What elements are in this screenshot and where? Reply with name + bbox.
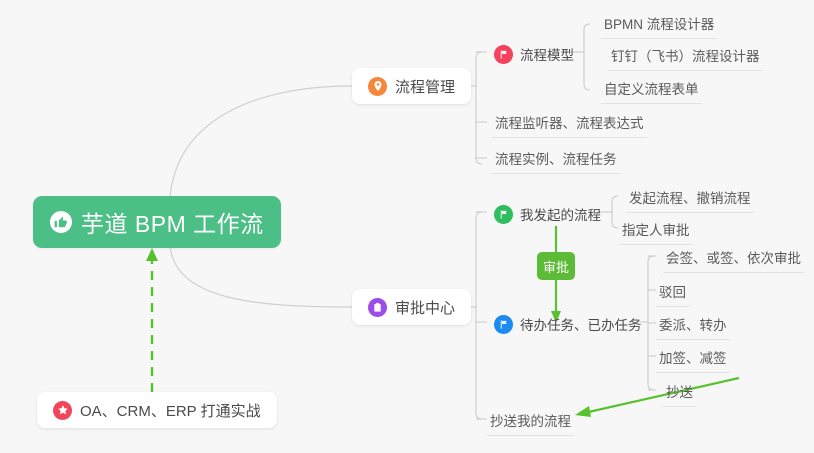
root-label: 芋道 BPM 工作流 — [81, 205, 264, 239]
leaf-dingtalk-feishu-designer[interactable]: 钉钉（飞书）流程设计器 — [608, 45, 763, 71]
location-pin-icon — [368, 77, 387, 96]
link-model-bracket — [584, 24, 590, 90]
mindmap-canvas: 芋道 BPM 工作流 流程管理 流程模型 BPMN 流程设计器 钉钉（飞书）流程… — [0, 0, 814, 453]
flag-icon — [494, 205, 513, 224]
leaf-delegate-transfer[interactable]: 委派、转办 — [656, 314, 730, 340]
annotation-integration-card[interactable]: OA、CRM、ERP 打通实战 — [37, 392, 277, 428]
leaf-add-remove-sign[interactable]: 加签、减签 — [656, 347, 730, 373]
clipboard-icon — [368, 298, 387, 317]
green-dashed-arrowhead — [146, 248, 158, 261]
link-root-to-approval-center — [170, 246, 352, 307]
annotation-approve-tag[interactable]: 审批 — [537, 252, 575, 280]
annotation-integration-label: OA、CRM、ERP 打通实战 — [80, 400, 261, 421]
root-node[interactable]: 芋道 BPM 工作流 — [33, 196, 281, 248]
sub-label-todo-done-tasks: 待办任务、已办任务 — [520, 314, 642, 334]
link-ac-bracket — [476, 212, 482, 419]
branch-label-approval-center: 审批中心 — [395, 297, 455, 318]
leaf-cc-to-me-process[interactable]: 抄送我的流程 — [487, 410, 574, 436]
leaf-custom-form[interactable]: 自定义流程表单 — [601, 78, 702, 104]
green-arrowhead-cc — [575, 406, 591, 417]
leaf-process-instance-task[interactable]: 流程实例、流程任务 — [492, 148, 620, 174]
star-icon — [53, 401, 72, 420]
branch-label-process-management: 流程管理 — [395, 76, 455, 97]
sub-node-process-model[interactable]: 流程模型 — [492, 44, 576, 68]
thumbs-up-icon — [50, 211, 72, 233]
flag-icon — [494, 45, 513, 64]
link-todo-bracket — [648, 256, 654, 390]
sub-node-todo-done-tasks[interactable]: 待办任务、已办任务 — [492, 314, 644, 338]
branch-node-approval-center[interactable]: 审批中心 — [352, 289, 471, 325]
leaf-bpmn-designer[interactable]: BPMN 流程设计器 — [601, 13, 717, 39]
flag-icon — [494, 315, 513, 334]
link-pm-bracket — [476, 52, 482, 164]
leaf-carbon-copy[interactable]: 抄送 — [663, 381, 696, 407]
leaf-start-cancel-process[interactable]: 发起流程、撤销流程 — [626, 187, 754, 213]
sub-node-my-initiated[interactable]: 我发起的流程 — [492, 204, 603, 228]
green-arrow-cc — [584, 378, 739, 413]
sub-label-process-model: 流程模型 — [520, 44, 574, 64]
leaf-countersign[interactable]: 会签、或签、依次审批 — [663, 247, 804, 273]
leaf-assignee-approval[interactable]: 指定人审批 — [619, 219, 693, 245]
branch-node-process-management[interactable]: 流程管理 — [352, 68, 471, 104]
leaf-process-listener-expression[interactable]: 流程监听器、流程表达式 — [492, 112, 647, 138]
link-root-to-process-management — [170, 86, 352, 198]
sub-label-my-initiated: 我发起的流程 — [520, 204, 601, 224]
leaf-reject[interactable]: 驳回 — [656, 281, 689, 307]
link-mine-bracket — [612, 196, 618, 228]
